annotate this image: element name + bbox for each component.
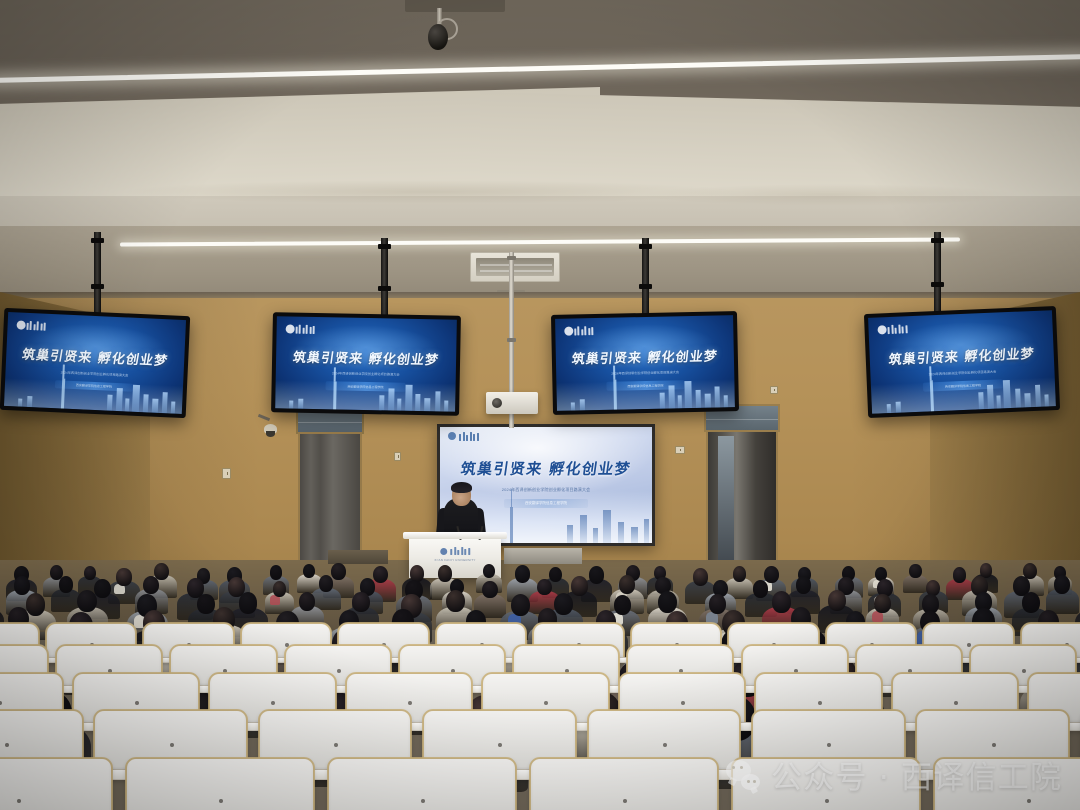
wall-switch-left[interactable] [394,452,401,461]
seat-screw [954,701,958,705]
seat-screw [1027,799,1031,803]
tv-org-logo [16,319,45,332]
seat-screw [421,799,425,803]
tv-city-skyline [871,374,1056,414]
seat-screw [623,799,627,803]
audience-member-head [482,581,497,599]
wechat-icon [726,760,760,790]
tv-mount-pole-4 [934,232,941,322]
audience-member-head [299,592,315,611]
audience-member-head [84,566,96,580]
university-seal-icon [286,324,295,333]
ceiling-stain-right [640,184,1020,206]
seat-screw [271,701,275,705]
audience-member-head [909,564,921,578]
screen-org-logo [448,432,479,441]
audience-member-head [549,567,562,582]
auditorium-seat[interactable] [328,758,516,810]
audience-member-head [197,594,214,614]
audience-member-head [571,576,588,596]
audience-member-head [772,591,791,613]
audience-member-head [1022,592,1040,613]
audience-member-head [483,564,495,578]
tv-city-skyline [275,377,456,412]
audience-member-head [589,566,604,583]
seat-screw [17,799,21,803]
audience-member-head [753,580,769,598]
tv-city-skyline [4,374,183,414]
audience-member-head [270,565,282,579]
seat-screw [498,743,502,747]
wall-tv-right: 筑巢引贤来 孵化创业梦 2024年西译创新创业学院创业孵化项目路演大会 西安翻译… [551,311,739,415]
university-seal-icon [16,321,25,330]
university-wordmark [459,432,479,441]
wall-tv-far-left: 筑巢引贤来 孵化创业梦 2024年西译创新创业学院创业孵化项目路演大会 西安翻译… [0,308,190,418]
audience-member-head [143,576,159,594]
audience-member-head [94,579,111,598]
seat-screw [544,701,548,705]
seat-screw [0,701,2,705]
audience-member-head [438,565,453,582]
dome-camera-icon [264,424,277,434]
tv-title-text: 筑巢引贤来 孵化创业梦 [275,347,457,369]
audience-member-head [953,567,966,583]
audience-member-head [537,579,552,596]
screen-title-text: 筑巢引贤来 孵化创业梦 [440,458,652,479]
tv-org-logo [564,325,593,338]
watermark-text: 公众号 · 西译信工院 [771,752,1062,797]
university-seal-icon [564,326,573,335]
audience-member-head [733,566,747,582]
seat-screw [5,743,9,747]
seat-screw [825,799,829,803]
seat-screw [408,701,412,705]
audience-member-head [709,594,727,614]
podium-top-surface [403,532,507,539]
audience-member-head [515,565,530,582]
audience-member-head [116,568,131,585]
tv-mount-pole-2 [381,238,388,322]
lecture-hall-photo: 筑巢引贤来 孵化创业梦 2024年西译创新创业学院创业孵化项目路演大会 西安翻译… [0,0,1080,810]
seat-screw [827,743,831,747]
audience-member-head [331,563,346,580]
seat-screw [334,743,338,747]
tv-city-skyline [556,376,735,411]
wall-tv-left: 筑巢引贤来 孵化创业梦 2024年西译创新创业学院创业孵化项目路演大会 西安翻译… [271,312,461,416]
watermark: 公众号 · 西译信工院 [726,752,1062,797]
audience-member-head [764,566,779,583]
presenter-hair [451,482,472,493]
university-seal-icon [878,326,887,335]
audience-member-head [154,563,169,580]
wall-tv-far-right: 筑巢引贤来 孵化创业梦 2024年西译创新创业学院创业孵化项目路演大会 西安翻译… [864,306,1060,418]
wall-outlet-left[interactable] [222,468,231,479]
wall-outlet-right[interactable] [675,446,685,454]
audience-member-head [273,581,287,597]
audience-member-head [658,591,677,613]
audience-member-head [446,590,465,612]
wall-sensor-right [770,386,778,394]
audience-member-head [1054,575,1070,593]
audience-member-head [26,593,46,616]
audience-member-head [303,564,315,578]
tv-org-logo [286,323,315,335]
university-wordmark [887,325,907,335]
seat-screw [1022,669,1026,673]
audience-member-head [77,590,97,613]
audience-member-head [14,576,30,595]
hanging-speaker-icon [428,24,448,50]
auditorium-seat[interactable] [530,758,718,810]
audience-member-head [614,595,631,615]
university-wordmark [574,326,594,335]
audience-member-head [373,566,388,583]
audience-member-head [796,576,812,594]
tv-org-logo [878,323,907,337]
audience-member-head [319,575,334,592]
auditorium-seat[interactable] [126,758,314,810]
audience-member-head [693,568,708,585]
university-seal-icon [448,432,456,440]
audience-member-head [511,594,530,616]
audience-member-head [352,592,369,612]
audience-member-head [554,593,573,615]
auditorium-seat[interactable] [0,758,112,810]
ceiling-mount-plate [405,0,505,12]
audience-member-head [619,575,635,594]
seat-screw [967,643,971,647]
seat-screw [663,743,667,747]
seat-screw [170,743,174,747]
tv-mount-pole-3 [642,238,649,320]
seat-screw [818,701,822,705]
university-wordmark [26,321,46,331]
seat-screw [219,799,223,803]
audience-member-head [828,590,846,611]
university-wordmark [295,325,315,334]
seat-screw [992,743,996,747]
projector-lens-icon [492,398,502,408]
audience-member-head [926,580,940,596]
seat-screw [337,669,341,673]
audience-member-head [874,594,890,613]
seat-screw [681,701,685,705]
ceiling-projector-icon [486,392,538,414]
seat-screw [135,701,139,705]
audience-member-head [239,592,258,614]
